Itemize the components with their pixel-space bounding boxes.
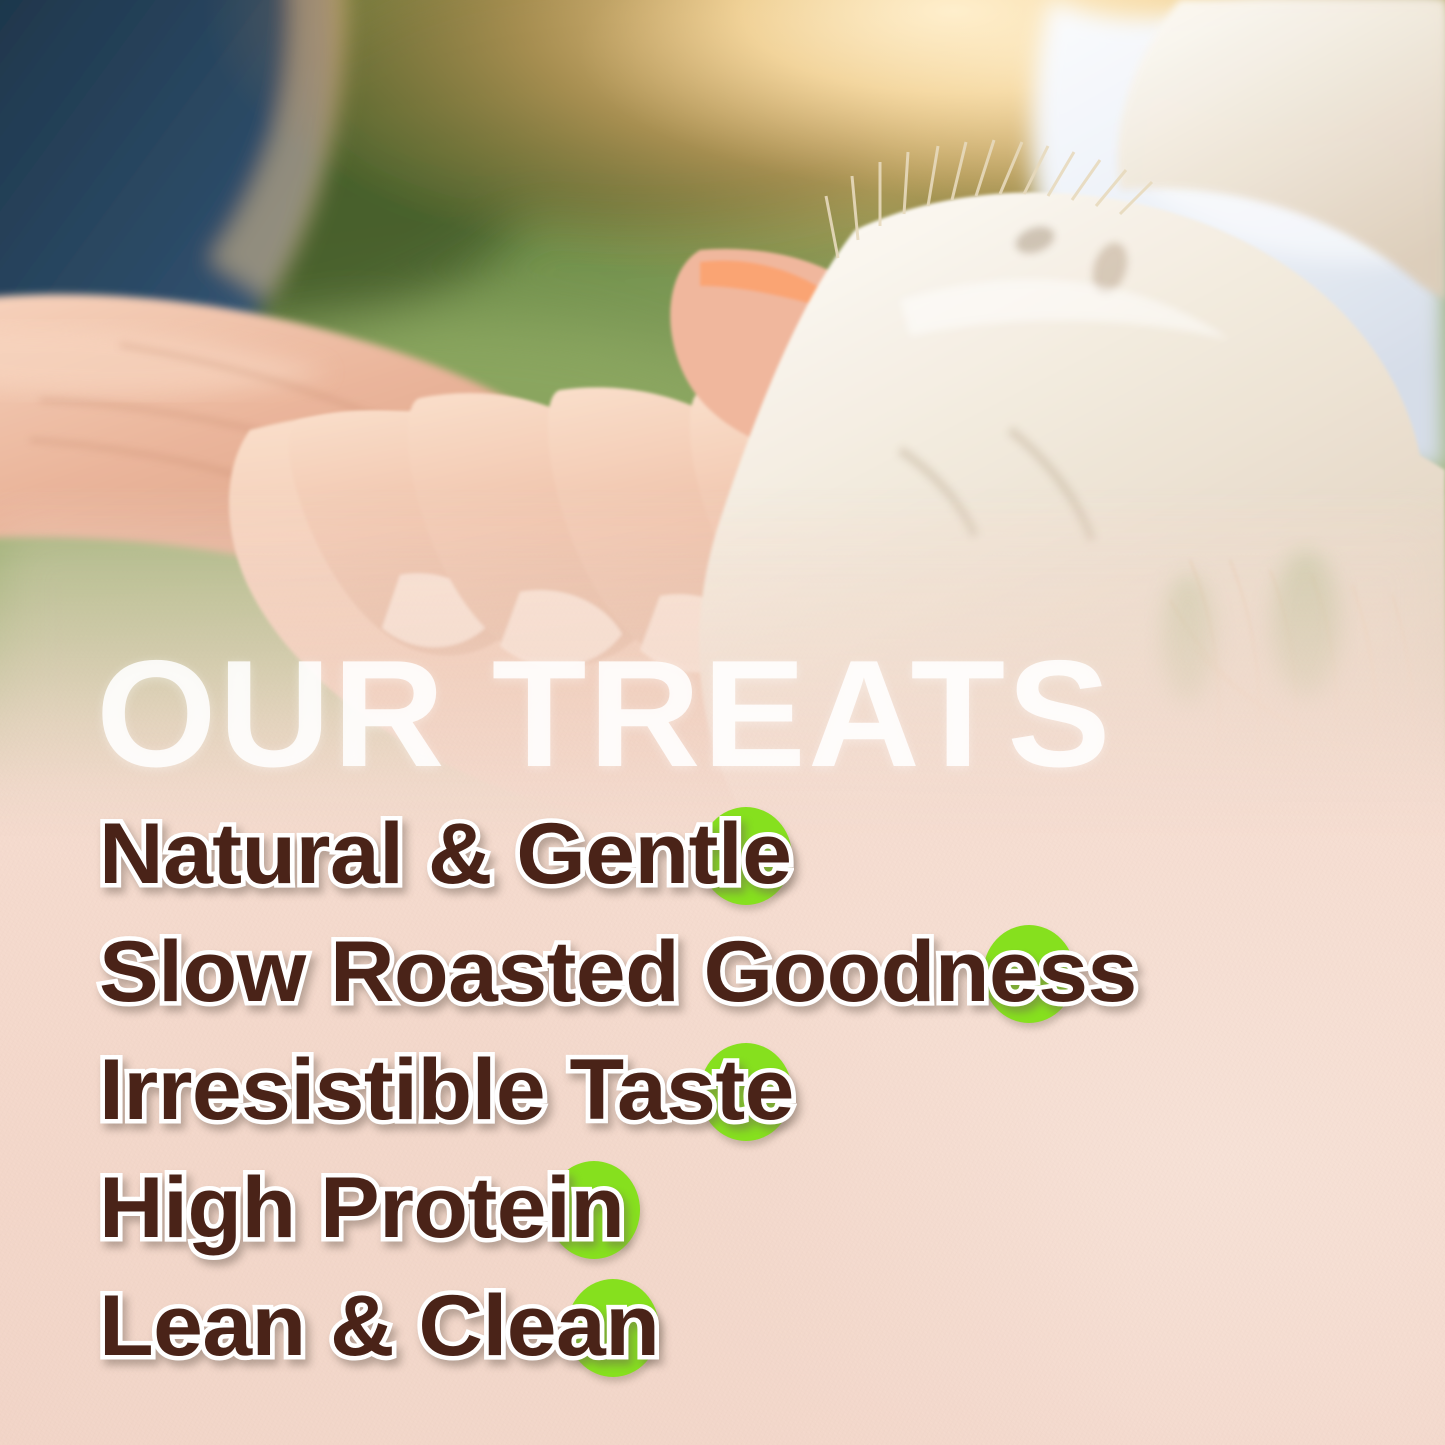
- feature-list: Natural & Gentle Slow Roasted Goodness I…: [0, 795, 1445, 1385]
- feature-label: High Protein: [99, 1149, 624, 1267]
- feature-label: Lean & Clean: [99, 1267, 659, 1385]
- feature-label: Natural & Gentle: [99, 795, 791, 913]
- list-item: Irresistible Taste: [0, 1031, 1445, 1149]
- feature-label: Irresistible Taste: [99, 1031, 794, 1149]
- feature-label: Slow Roasted Goodness: [99, 913, 1137, 1031]
- product-feature-poster: OUR TREATS Natural & Gentle Slow Roasted…: [0, 0, 1445, 1445]
- list-item: Natural & Gentle: [0, 795, 1445, 913]
- list-item: Lean & Clean: [0, 1267, 1445, 1385]
- list-item: Slow Roasted Goodness: [0, 913, 1445, 1031]
- list-item: High Protein: [0, 1149, 1445, 1267]
- page-title: OUR TREATS: [96, 638, 1320, 790]
